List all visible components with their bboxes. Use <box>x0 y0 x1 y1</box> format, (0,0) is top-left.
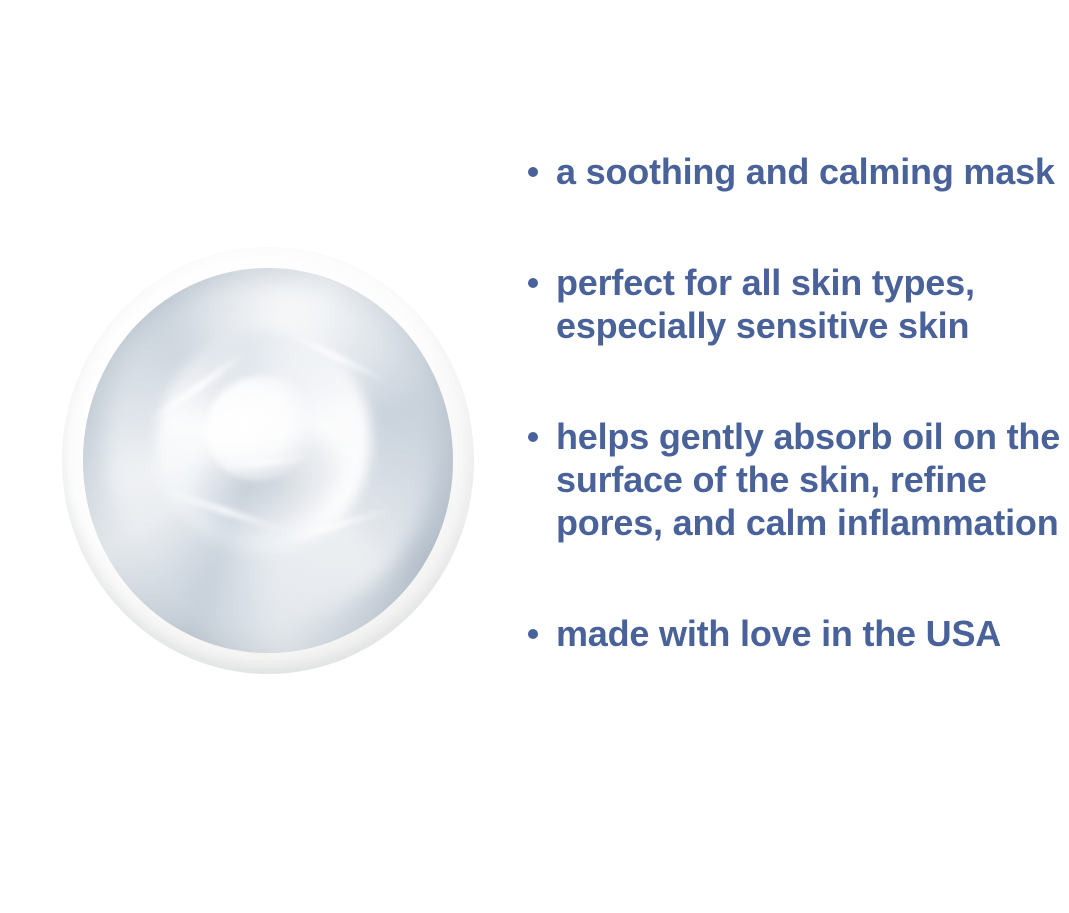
benefit-item: made with love in the USA <box>528 612 1069 655</box>
cream-gloss-streak <box>216 455 312 470</box>
benefit-text: made with love in the USA <box>556 612 1001 655</box>
cream-gloss-streak <box>277 505 399 545</box>
product-benefits-page: a soothing and calming mask perfect for … <box>0 0 1069 913</box>
benefit-item: helps gently absorb oil on the surface o… <box>528 415 1069 544</box>
cream-gloss-streak <box>152 484 295 536</box>
bullet-dot-icon <box>528 629 538 639</box>
bullet-dot-icon <box>528 278 538 288</box>
cream-cool-mass-right <box>224 299 453 568</box>
benefit-item: a soothing and calming mask <box>528 150 1069 193</box>
benefit-text: helps gently absorb oil on the surface o… <box>556 415 1060 544</box>
bullet-dot-icon <box>528 432 538 442</box>
cream-swirl-middle <box>83 268 452 652</box>
cream-cool-mass-left <box>83 338 319 638</box>
benefits-list: a soothing and calming mask perfect for … <box>528 150 1069 655</box>
cream-center-peak <box>187 356 333 500</box>
product-image <box>62 247 474 674</box>
cream-surface <box>83 268 452 652</box>
cream-gloss-streak <box>273 324 395 388</box>
benefit-text: perfect for all skin types, especially s… <box>556 261 975 347</box>
cream-swirl-outer <box>83 268 452 652</box>
cream-swirl-inner <box>136 310 392 573</box>
jar-rim <box>62 247 474 674</box>
benefit-text: a soothing and calming mask <box>556 150 1055 193</box>
benefit-item: perfect for all skin types, especially s… <box>528 261 1069 347</box>
cream-gloss-streak <box>145 347 251 426</box>
cream-center-shadow <box>184 413 351 546</box>
bullet-dot-icon <box>528 167 538 177</box>
